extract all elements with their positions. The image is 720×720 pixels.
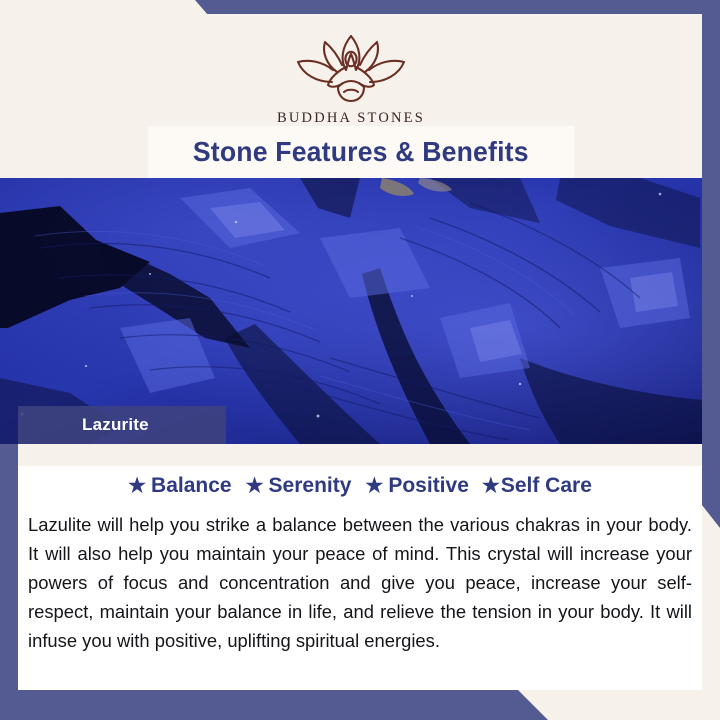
brand-wordmark: BUDDHA STONES: [277, 110, 425, 127]
star-icon: ★: [128, 476, 146, 496]
benefit-item-positive: ★ Positive: [365, 474, 468, 498]
benefit-item-self-care: ★ Self Care: [482, 474, 592, 498]
benefit-label: Self Care: [501, 474, 592, 498]
content-panel: ★ Balance ★ Serenity ★ Positive ★ Self C…: [18, 444, 702, 690]
benefit-label: Positive: [388, 474, 469, 498]
title-banner: Stone Features & Benefits: [148, 126, 574, 178]
lotus-meditation-icon: [276, 30, 426, 104]
benefit-item-balance: ★ Balance: [128, 474, 231, 498]
star-icon: ★: [246, 476, 264, 496]
brand-logo: BUDDHA STONES: [276, 30, 426, 127]
benefit-label: Serenity: [269, 474, 352, 498]
page-title: Stone Features & Benefits: [193, 136, 529, 168]
decor-band-bottom: [0, 690, 720, 720]
decor-band-left: [0, 433, 18, 695]
stone-image: [0, 178, 702, 444]
star-icon: ★: [365, 476, 383, 496]
lazurite-texture: [0, 178, 702, 444]
benefit-label: Balance: [151, 474, 232, 498]
stone-description: Lazulite will help you strike a balance …: [28, 510, 692, 655]
benefit-item-serenity: ★ Serenity: [246, 474, 352, 498]
stone-name-label: Lazurite: [18, 415, 149, 435]
poster-canvas: BUDDHA STONES Stone Features & Benefits: [0, 0, 720, 720]
star-icon: ★: [482, 476, 500, 496]
panel-top-fade: [18, 444, 702, 466]
stone-name-badge: Lazurite: [18, 406, 226, 444]
benefits-row: ★ Balance ★ Serenity ★ Positive ★ Self C…: [18, 474, 702, 498]
